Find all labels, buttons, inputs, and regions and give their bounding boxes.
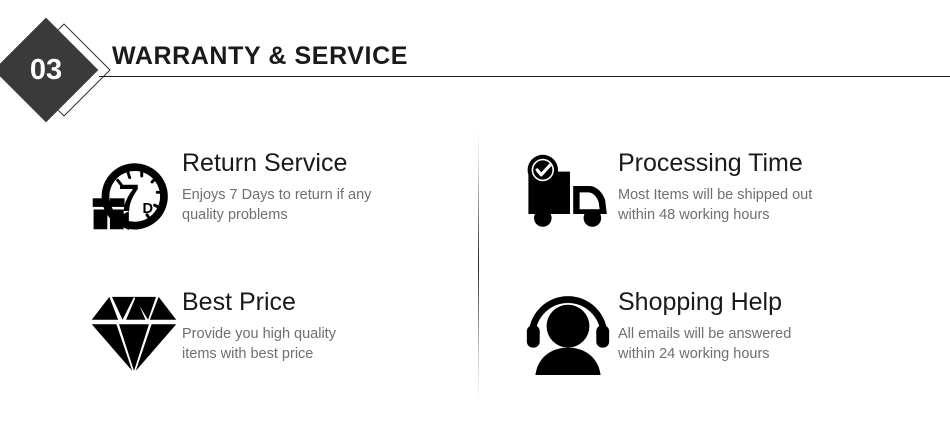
feature-title: Shopping Help: [618, 289, 791, 317]
feature-description-line2: within 24 working hours: [618, 344, 791, 364]
feature-text: Shopping Help All emails will be answere…: [618, 287, 791, 364]
feature-description-line2: within 48 working hours: [618, 205, 812, 225]
page-title: WARRANTY & SERVICE: [112, 42, 408, 71]
feature-title: Return Service: [182, 150, 371, 178]
feature-title: Processing Time: [618, 150, 812, 178]
column-divider: [478, 130, 479, 400]
feature-description-line2: quality problems: [182, 205, 371, 225]
feature-text: Processing Time Most Items will be shipp…: [618, 148, 812, 225]
feature-description: All emails will be answered within 24 wo…: [618, 324, 791, 364]
feature-title: Best Price: [182, 289, 336, 317]
feature-description-line2: items with best price: [182, 344, 336, 364]
section-header: 03 WARRANTY & SERVICE: [0, 0, 950, 130]
feature-description: Enjoys 7 Days to return if any quality p…: [182, 185, 371, 225]
badge-number: 03: [9, 33, 83, 107]
delivery-truck-check-icon: [518, 148, 618, 240]
feature-description-line1: Most Items will be shipped out: [618, 185, 812, 205]
feature-description-line1: Enjoys 7 Days to return if any: [182, 185, 371, 205]
feature-description-line1: All emails will be answered: [618, 324, 791, 344]
feature-best-price: Best Price Provide you high quality item…: [86, 287, 336, 379]
diamond-gem-icon: [86, 287, 182, 379]
headset-support-icon: [518, 287, 618, 379]
feature-shopping-help: Shopping Help All emails will be answere…: [518, 287, 791, 379]
feature-text: Best Price Provide you high quality item…: [182, 287, 336, 364]
feature-processing-time: Processing Time Most Items will be shipp…: [518, 148, 812, 240]
header-divider-rule: [99, 76, 950, 77]
svg-text:D: D: [142, 201, 153, 217]
feature-text: Return Service Enjoys 7 Days to return i…: [182, 148, 371, 225]
features-grid: 7 D Return Service Enjoys 7 Days to retu…: [0, 130, 950, 415]
feature-description: Provide you high quality items with best…: [182, 324, 336, 364]
feature-return-service: 7 D Return Service Enjoys 7 Days to retu…: [86, 148, 371, 240]
return-clock-gift-icon: 7 D: [86, 148, 182, 240]
feature-description: Most Items will be shipped out within 48…: [618, 185, 812, 225]
feature-description-line1: Provide you high quality: [182, 324, 336, 344]
